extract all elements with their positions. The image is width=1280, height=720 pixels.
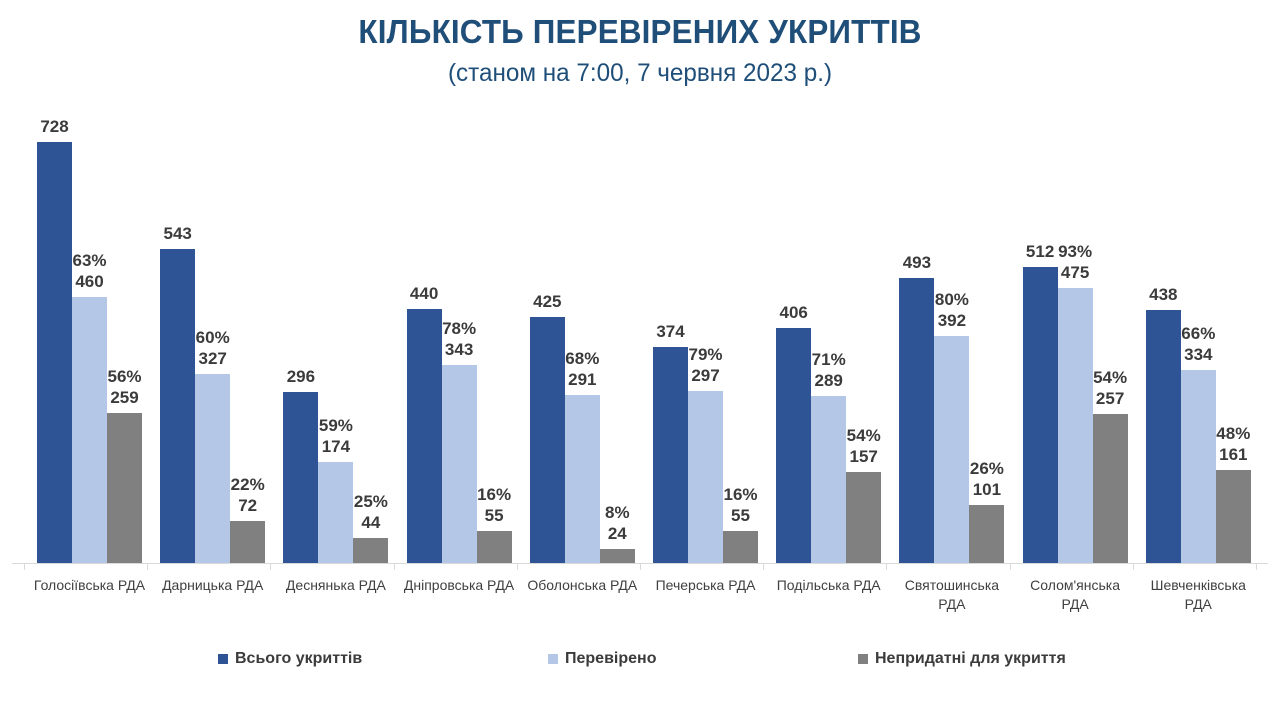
bar-percent-text: 79% [688,344,722,366]
legend-item-unfit[interactable]: Непридатні для укриття [858,650,1066,668]
category-label: Святошинська РДА [888,576,1015,614]
bar-number-text: 55 [723,505,757,527]
bar-number-text: 24 [605,523,630,545]
bar-total[interactable]: 296 [283,392,318,563]
bar-number-text: 374 [656,321,684,343]
bar-number-text: 475 [1058,262,1092,284]
bar-percent-text: 80% [935,289,969,311]
bar-number-text: 55 [477,505,511,527]
legend-item-total[interactable]: Всього укриттів [218,650,362,668]
bar-checked[interactable]: 80%392 [934,336,969,563]
bar-number-text: 257 [1093,388,1127,410]
bar-value-label: 68%291 [565,348,599,392]
bar-total[interactable]: 374 [653,347,688,563]
category-label: Оболонська РДА [519,576,646,595]
bar-value-label: 63%460 [72,250,106,294]
bar-value-label: 16%55 [477,484,511,528]
bar-value-label: 78%343 [442,318,476,362]
axis-tick [763,564,764,570]
bar-value-label: 440 [410,283,438,305]
bar-value-label: 54%157 [847,425,881,469]
bar-percent-text: 54% [847,425,881,447]
bar-percent-text: 26% [970,458,1004,480]
bar-number-text: 512 [1026,241,1054,263]
bar-checked[interactable]: 79%297 [688,391,723,563]
bar-number-text: 343 [442,339,476,361]
bar-group: 37479%29716%55 [653,347,758,563]
bar-total[interactable]: 406 [776,328,811,563]
category-label: Голосіївська РДА [26,576,153,595]
bar-number-text: 259 [107,387,141,409]
category-label: Печерська РДА [642,576,769,595]
bar-number-text: 161 [1216,444,1250,466]
chart-legend: Всього укриттівПеревіреноНепридатні для … [0,650,1280,676]
bar-percent-text: 59% [319,415,353,437]
axis-tick [394,564,395,570]
bar-total[interactable]: 425 [530,317,565,563]
bar-total[interactable]: 728 [37,142,72,563]
bar-value-label: 493 [903,252,931,274]
bar-group: 54360%32722%72 [160,249,265,563]
legend-swatch-icon [548,654,558,664]
bar-checked[interactable]: 93%475 [1058,288,1093,563]
bar-number-text: 438 [1149,284,1177,306]
legend-swatch-icon [218,654,228,664]
bar-checked[interactable]: 78%343 [442,365,477,563]
bar-value-label: 512 [1026,241,1054,263]
bar-number-text: 72 [231,495,265,517]
axis-tick [270,564,271,570]
bar-number-text: 728 [40,116,68,138]
bar-value-label: 22%72 [231,474,265,518]
bar-checked[interactable]: 63%460 [72,297,107,563]
bar-group: 40671%28954%157 [776,328,881,563]
category-label: Шевченківська РДА [1135,576,1262,614]
bar-percent-text: 63% [72,250,106,272]
bar-unfit[interactable]: 26%101 [969,505,1004,563]
bar-checked[interactable]: 59%174 [318,462,353,563]
axis-tick [1133,564,1134,570]
axis-tick [1010,564,1011,570]
category-label: Подільська РДА [765,576,892,595]
bar-total[interactable]: 543 [160,249,195,563]
bar-group: 29659%17425%44 [283,392,388,563]
bar-value-label: 543 [164,223,192,245]
bar-value-label: 438 [1149,284,1177,306]
bar-percent-text: 56% [107,366,141,388]
bar-percent-text: 25% [354,491,388,513]
bar-percent-text: 60% [196,327,230,349]
category-label: Дарницька РДА [149,576,276,595]
bar-checked[interactable]: 60%327 [195,374,230,563]
bar-value-label: 60%327 [196,327,230,371]
bar-checked[interactable]: 66%334 [1181,370,1216,563]
bar-value-label: 71%289 [812,349,846,393]
category-label: Деснянька РДА [272,576,399,595]
bar-number-text: 493 [903,252,931,274]
bar-number-text: 157 [847,446,881,468]
bar-value-label: 425 [533,291,561,313]
bar-group: 51293%47554%257 [1023,267,1128,563]
bar-unfit[interactable]: 25%44 [353,538,388,563]
bar-total[interactable]: 440 [407,309,442,563]
bar-group: 49380%39226%101 [899,278,1004,563]
category-label: Солом'янська РДА [1012,576,1139,614]
bar-percent-text: 78% [442,318,476,340]
bar-group: 44078%34316%55 [407,309,512,563]
bar-total[interactable]: 512 [1023,267,1058,563]
bar-percent-text: 16% [723,484,757,506]
bar-value-label: 54%257 [1093,367,1127,411]
bar-unfit[interactable]: 56%259 [107,413,142,563]
bar-number-text: 406 [780,302,808,324]
bar-value-label: 25%44 [354,491,388,535]
bar-value-label: 59%174 [319,415,353,459]
bar-number-text: 174 [319,436,353,458]
bar-value-label: 80%392 [935,289,969,333]
bar-value-label: 56%259 [107,366,141,410]
category-label: Дніпровська РДА [396,576,523,595]
legend-label: Перевірено [565,650,656,668]
legend-label: Всього укриттів [235,650,362,668]
bar-percent-text: 68% [565,348,599,370]
axis-tick [24,564,25,570]
axis-tick [886,564,887,570]
axis-tick [1256,564,1257,570]
bar-unfit[interactable]: 54%157 [846,472,881,563]
bar-value-label: 93%475 [1058,241,1092,285]
legend-swatch-icon [858,654,868,664]
legend-label: Непридатні для укриття [875,650,1066,668]
bar-number-text: 425 [533,291,561,313]
bar-group: 43866%33448%161 [1146,310,1251,563]
bar-checked[interactable]: 71%289 [811,396,846,563]
bar-percent-text: 71% [812,349,846,371]
bar-value-label: 374 [656,321,684,343]
bar-value-label: 728 [40,116,68,138]
bar-percent-text: 8% [605,502,630,524]
bar-group: 42568%2918%24 [530,317,635,563]
bar-value-label: 406 [780,302,808,324]
axis-tick [147,564,148,570]
bar-value-label: 16%55 [723,484,757,528]
bar-total[interactable]: 438 [1146,310,1181,563]
bar-number-text: 392 [935,310,969,332]
bar-number-text: 44 [354,512,388,534]
bar-value-label: 26%101 [970,458,1004,502]
plot-area: 72863%46056%259Голосіївська РДА54360%327… [0,0,1280,565]
bar-value-label: 296 [287,366,315,388]
bar-value-label: 8%24 [605,502,630,546]
bar-value-label: 79%297 [688,344,722,388]
bar-number-text: 440 [410,283,438,305]
bar-unfit[interactable]: 16%55 [723,531,758,563]
bar-value-label: 66%334 [1181,323,1215,367]
chart-root: КІЛЬКІСТЬ ПЕРЕВІРЕНИХ УКРИТТІВ (станом н… [0,0,1280,720]
bar-unfit[interactable]: 54%257 [1093,414,1128,563]
legend-item-checked[interactable]: Перевірено [548,650,656,668]
bar-total[interactable]: 493 [899,278,934,563]
bar-unfit[interactable]: 48%161 [1216,470,1251,563]
bar-value-label: 48%161 [1216,423,1250,467]
bar-unfit[interactable]: 22%72 [230,521,265,563]
bar-number-text: 101 [970,479,1004,501]
bar-number-text: 291 [565,369,599,391]
bar-number-text: 460 [72,271,106,293]
axis-tick [640,564,641,570]
bar-number-text: 327 [196,348,230,370]
bar-number-text: 289 [812,370,846,392]
bar-percent-text: 16% [477,484,511,506]
bar-unfit[interactable]: 16%55 [477,531,512,563]
bar-number-text: 297 [688,365,722,387]
bar-number-text: 334 [1181,344,1215,366]
bar-percent-text: 48% [1216,423,1250,445]
bar-percent-text: 66% [1181,323,1215,345]
bar-group: 72863%46056%259 [37,142,142,563]
bar-unfit[interactable]: 8%24 [600,549,635,563]
bar-percent-text: 54% [1093,367,1127,389]
bar-number-text: 543 [164,223,192,245]
bar-percent-text: 93% [1058,241,1092,263]
bar-percent-text: 22% [231,474,265,496]
axis-tick [517,564,518,570]
bar-checked[interactable]: 68%291 [565,395,600,563]
bar-number-text: 296 [287,366,315,388]
